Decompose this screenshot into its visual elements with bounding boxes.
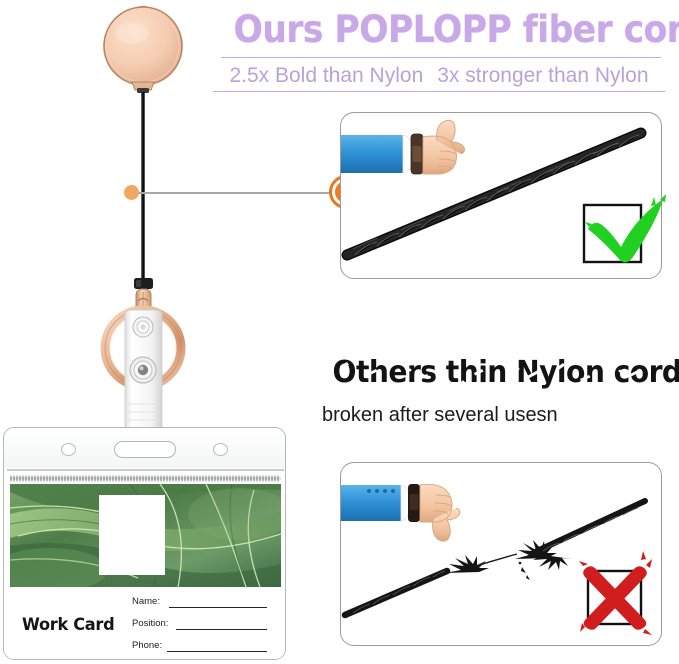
field-label-name: Name: (132, 596, 160, 607)
work-card-badge-holder: Work Card Name: Position: Phone: (3, 427, 286, 660)
badge-holder-top (4, 428, 285, 468)
callout-bad-cord (340, 462, 662, 646)
card-fields: Work Card Name: Position: Phone: (4, 587, 285, 660)
field-line-phone (167, 651, 267, 652)
badge-clip-slot (114, 441, 176, 458)
thumbs-down-icon (341, 484, 460, 541)
subtitle-ours-left: 2.5x Bold than Nylon (229, 64, 423, 87)
subtitle-ours: 2.5x Bold than Nylon3x stronger than Nyl… (213, 60, 665, 91)
badge-reel-disc-icon (104, 7, 182, 93)
field-label-position: Position: (132, 618, 168, 629)
subtitle-ours-right: 3x stronger than Nylon (437, 64, 648, 87)
page-title-others: Others thin Nylon cord (333, 356, 664, 390)
badge-hole-right (213, 443, 228, 456)
photo-placeholder (99, 495, 165, 575)
page-title-ours: Ours POPLOPP fiber cord (234, 8, 649, 52)
badge-hole-left (61, 443, 76, 456)
card-photo-artwork (10, 484, 281, 587)
field-label-phone: Phone: (132, 640, 162, 651)
field-line-position (176, 629, 267, 630)
subtitle-others: broken after several usesn (322, 401, 622, 429)
thumbs-up-icon (341, 120, 465, 174)
badge-seal-line (7, 469, 284, 471)
work-card-title: Work Card (22, 615, 114, 635)
callout-good-cord (340, 112, 662, 279)
field-line-name (169, 607, 267, 608)
product-comparison-image: Ours POPLOPP fiber cord 2.5x Bold than N… (0, 0, 679, 664)
badge-zipper-icon (10, 475, 281, 482)
heading-rule-top (221, 57, 661, 58)
callout-connector-line (131, 192, 345, 194)
cord-highlight-dot (124, 185, 139, 200)
cord-crimp-icon (134, 278, 153, 289)
heading-rule-bottom (213, 91, 665, 92)
badge-strap-clip-icon (125, 310, 162, 432)
